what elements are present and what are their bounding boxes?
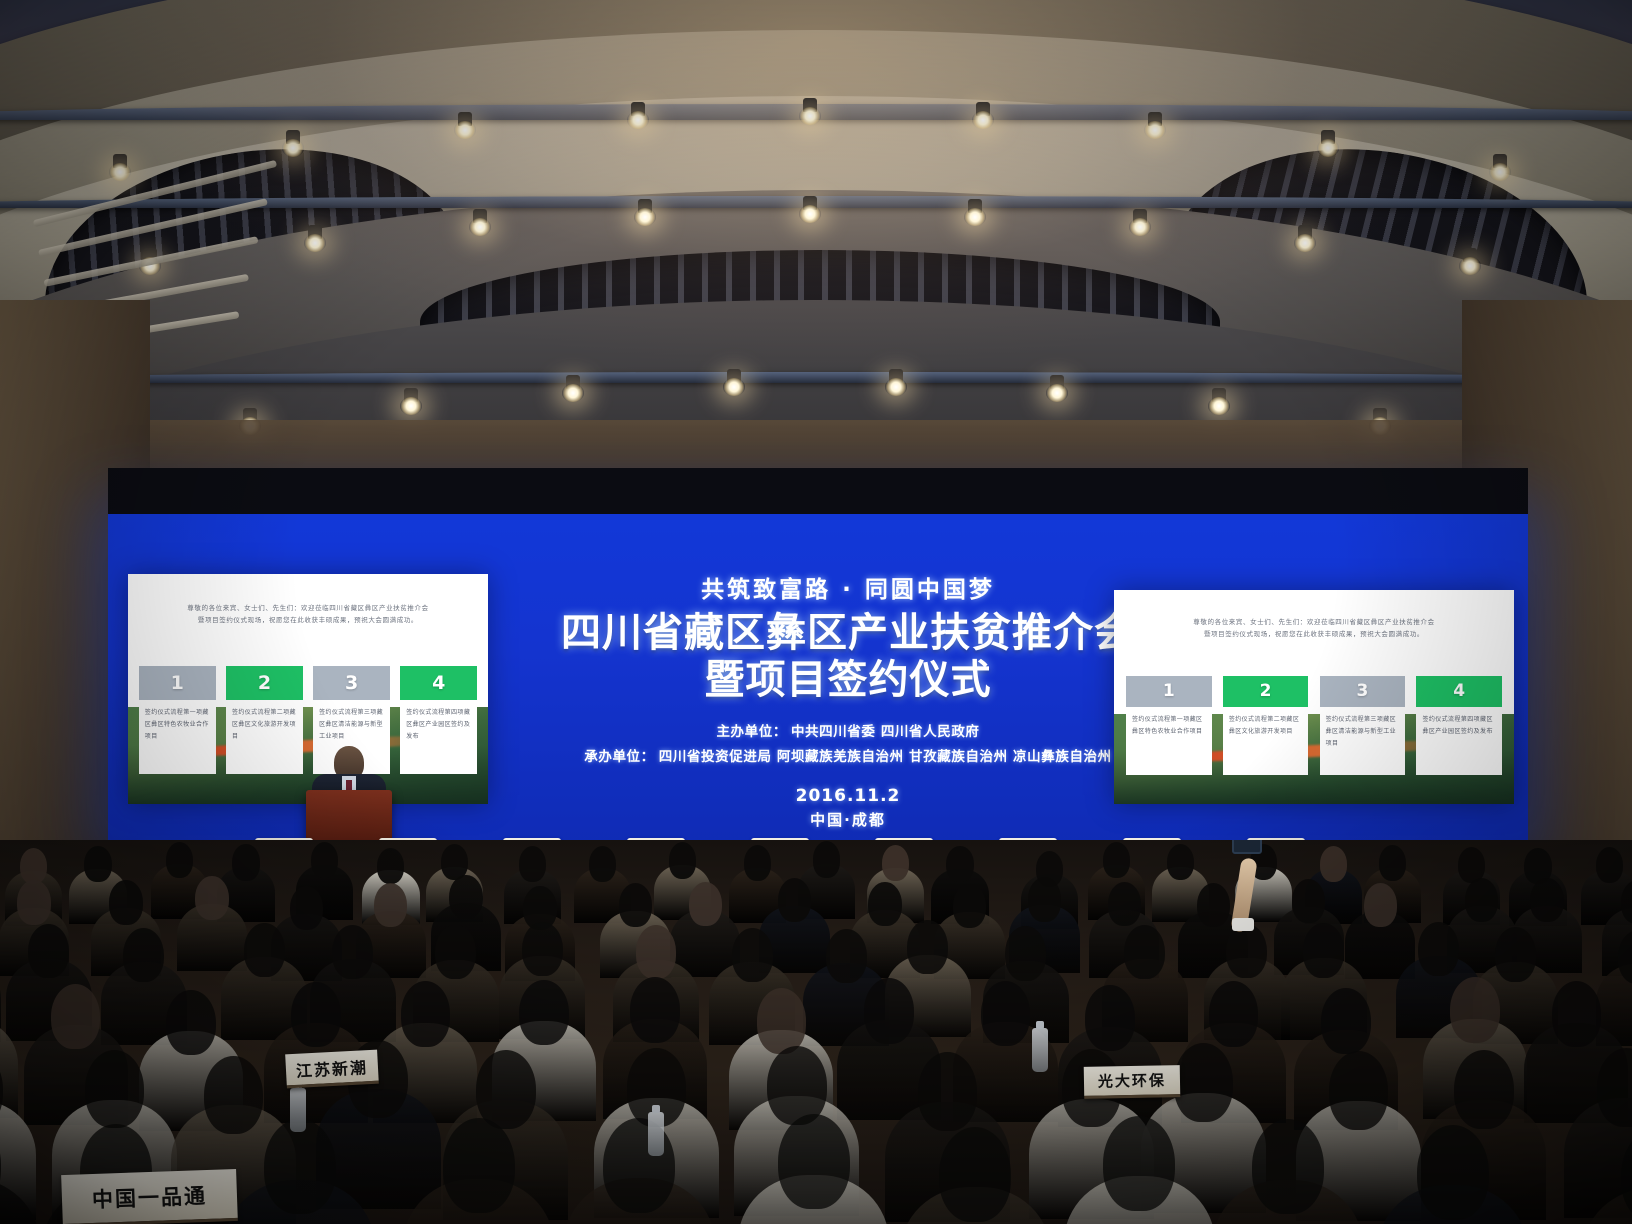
host-value: 中共四川省委 四川省人民政府 xyxy=(791,724,980,740)
audience-member-head xyxy=(17,880,50,924)
spotlight-glow xyxy=(1046,384,1068,402)
ceiling-spotlight xyxy=(282,130,304,156)
audience-member-head xyxy=(1028,877,1061,921)
slide-card: 1 签约仪式流程第一项藏区彝区特色农牧业合作项目 xyxy=(1126,676,1212,775)
stage-area: 尊敬的各位来宾、女士们、先生们：欢迎莅临四川省藏区彝区产业扶贫推介会 暨项目签约… xyxy=(0,470,1632,890)
audience-member-head xyxy=(630,977,680,1043)
intro-line-1: 尊敬的各位来宾、女士们、先生们：欢迎莅临四川省藏区彝区产业扶贫推介会 xyxy=(1142,616,1486,628)
ceiling-spotlight xyxy=(723,369,745,395)
ceiling-spotlight xyxy=(634,199,656,225)
audience-member-head xyxy=(1226,924,1267,978)
screen-place: 中国·成都 xyxy=(538,809,1158,830)
audience-member-head xyxy=(1303,923,1344,977)
audience-member-head xyxy=(1418,922,1459,976)
audience-member-head xyxy=(28,924,69,978)
audience-member-head xyxy=(1103,842,1130,878)
slide-panel-left-intro: 尊敬的各位来宾、女士们、先生们：欢迎莅临四川省藏区彝区产业扶贫推介会 暨项目签约… xyxy=(153,602,463,627)
audience-member-head xyxy=(244,923,285,977)
audience-member-head xyxy=(689,882,722,926)
audience-member-head xyxy=(519,846,546,882)
coorganizer-value: 四川省投资促进局 阿坝藏族羌族自治州 甘孜藏族自治州 凉山彝族自治州 xyxy=(659,749,1112,765)
spotlight-glow xyxy=(1459,257,1481,275)
audience-member-head xyxy=(1364,883,1397,927)
audience-member-head xyxy=(1103,1116,1175,1211)
led-display-screen: 尊敬的各位来宾、女士们、先生们：欢迎莅临四川省藏区彝区产业扶贫推介会 暨项目签约… xyxy=(108,512,1528,852)
screen-date: 2016.11.2 xyxy=(538,786,1158,806)
host-label: 主办单位： xyxy=(716,724,787,740)
audience-member-head xyxy=(1292,879,1325,923)
screen-title-line-1: 四川省藏区彝区产业扶贫推介会 xyxy=(538,610,1158,657)
spotlight-glow xyxy=(1294,234,1316,252)
spotlight-glow xyxy=(1489,163,1511,181)
ceiling-spotlight xyxy=(109,154,131,180)
ceiling-spotlight xyxy=(1208,388,1230,414)
audience-member-head xyxy=(589,846,616,882)
audience-member-head xyxy=(1174,1043,1234,1122)
audience-member-head xyxy=(195,876,228,920)
slide-card-text: 签约仪式流程第三项藏区彝区清洁能源与新型工业项目 xyxy=(1320,707,1406,775)
slide-card-number: 1 xyxy=(139,666,216,700)
audience-member-head xyxy=(946,846,973,882)
spotlight-glow xyxy=(1208,397,1230,415)
ceiling-spotlight xyxy=(972,102,994,128)
water-bottle xyxy=(290,1088,306,1132)
spotlight-glow xyxy=(964,208,986,226)
spotlight-glow xyxy=(723,378,745,396)
spotlight-glow xyxy=(627,111,649,129)
slide-panel-right-intro: 尊敬的各位来宾、女士们、先生们：欢迎莅临四川省藏区彝区产业扶贫推介会 暨项目签约… xyxy=(1142,616,1486,641)
ceiling-spotlight xyxy=(469,209,491,235)
slide-card: 2 签约仪式流程第二项藏区彝区文化旅游开发项目 xyxy=(226,666,303,774)
audience-member-head xyxy=(1495,927,1536,981)
screen-title-line-2: 暨项目签约仪式 xyxy=(538,657,1158,704)
conference-hall-photo: 尊敬的各位来宾、女士们、先生们：欢迎莅临四川省藏区彝区产业扶贫推介会 暨项目签约… xyxy=(0,0,1632,1224)
audience-member-head xyxy=(1320,846,1347,882)
spotlight-glow xyxy=(1317,139,1339,157)
slide-card: 2 签约仪式流程第二项藏区彝区文化旅游开发项目 xyxy=(1223,676,1309,775)
intro-line-2: 暨项目签约仪式现场，祝愿您在此收获丰硕成果，预祝大会圆满成功。 xyxy=(1142,628,1486,640)
slide-card-text: 签约仪式流程第二项藏区彝区文化旅游开发项目 xyxy=(1223,707,1309,775)
audience-member-head xyxy=(1124,925,1165,979)
water-bottle xyxy=(648,1112,664,1156)
ceiling-spotlight xyxy=(964,199,986,225)
audience-member-head xyxy=(826,929,867,983)
ceiling-spotlight xyxy=(885,369,907,395)
audience-member-head xyxy=(1209,981,1259,1047)
audience-member-head xyxy=(1005,926,1046,980)
audience-member-head xyxy=(669,842,696,878)
audience-member-head xyxy=(1108,882,1141,926)
audience-member-head xyxy=(744,845,771,881)
audience-member-head xyxy=(522,922,563,976)
audience-member-head xyxy=(939,1127,1011,1222)
audience-member-head xyxy=(311,842,338,878)
spotlight-glow xyxy=(469,218,491,236)
audience-member-head xyxy=(84,846,111,882)
audience-member-head xyxy=(443,1118,515,1213)
ceiling-spotlight xyxy=(1317,130,1339,156)
ceiling-spotlight xyxy=(1046,375,1068,401)
audience-member-head xyxy=(953,884,986,928)
audience-member-head xyxy=(166,990,216,1056)
audience-member-head xyxy=(1596,847,1623,883)
audience-member-head xyxy=(778,878,811,922)
audience-member-head xyxy=(813,841,840,877)
audience-member-head xyxy=(636,925,677,979)
slide-card-text: 签约仪式流程第二项藏区彝区文化旅游开发项目 xyxy=(226,700,303,774)
smartphone xyxy=(1232,840,1262,854)
spotlight-glow xyxy=(885,378,907,396)
audience-member-head xyxy=(864,978,914,1044)
slide-card: 4 签约仪式流程第四项藏区彝区产业园区签约及发布 xyxy=(400,666,477,774)
audience-member-head xyxy=(603,1118,675,1213)
audience-member-head xyxy=(882,845,909,881)
audience-member-head xyxy=(1085,985,1135,1051)
screen-top-bezel xyxy=(108,468,1528,514)
spotlight-glow xyxy=(400,397,422,415)
ceiling-spotlight xyxy=(1489,154,1511,180)
spotlight-glow xyxy=(1144,121,1166,139)
audience-member-head xyxy=(1450,977,1500,1043)
slide-card-number: 4 xyxy=(400,666,477,700)
ceiling-spotlight xyxy=(400,388,422,414)
slide-card-text: 签约仪式流程第一项藏区彝区特色农牧业合作项目 xyxy=(139,700,216,774)
audience-member-head xyxy=(264,1119,336,1214)
slide-card-number: 4 xyxy=(1416,676,1502,707)
audience-member-head xyxy=(123,928,164,982)
ceiling-spotlight xyxy=(304,225,326,251)
ceiling-spotlight xyxy=(1129,209,1151,235)
audience-member-head xyxy=(868,882,901,926)
audience-member-head xyxy=(778,1114,850,1209)
audience-member-head xyxy=(291,982,341,1048)
slide-card-text: 签约仪式流程第一项藏区彝区特色农牧业合作项目 xyxy=(1126,707,1212,775)
audience-member-head xyxy=(907,920,948,974)
audience-member-head xyxy=(1417,1125,1489,1220)
spotlight-glow xyxy=(634,208,656,226)
audience-member-head xyxy=(1465,878,1498,922)
slide-panel-left: 尊敬的各位来宾、女士们、先生们：欢迎莅临四川省藏区彝区产业扶贫推介会 暨项目签约… xyxy=(128,574,488,804)
audience-member-head xyxy=(449,875,482,919)
ceiling-spotlight xyxy=(799,196,821,222)
slide-card-number: 3 xyxy=(313,666,390,700)
screen-headline-block: 共筑致富路 · 同圆中国梦 四川省藏区彝区产业扶贫推介会 暨项目签约仪式 主办单… xyxy=(538,570,1158,830)
spotlight-glow xyxy=(799,205,821,223)
screen-slogan: 共筑致富路 · 同圆中国梦 xyxy=(538,570,1158,604)
audience-member-head xyxy=(401,981,451,1047)
slide-card: 3 签约仪式流程第三项藏区彝区清洁能源与新型工业项目 xyxy=(1320,676,1406,775)
slide-card-text: 签约仪式流程第四项藏区彝区产业园区签约及发布 xyxy=(400,700,477,774)
audience-member-head xyxy=(51,984,101,1050)
table-nameplate: 江苏新潮 xyxy=(285,1050,379,1089)
audience-member-head xyxy=(85,1050,145,1129)
audience-member-head xyxy=(377,848,404,884)
audience-member-head xyxy=(757,988,807,1054)
intro-line-1: 尊敬的各位来宾、女士们、先生们：欢迎莅临四川省藏区彝区产业扶贫推介会 xyxy=(153,602,463,614)
slide-panel-left-cards: 1 签约仪式流程第一项藏区彝区特色农牧业合作项目 2 签约仪式流程第二项藏区彝区… xyxy=(139,666,477,774)
spotlight-glow xyxy=(109,163,131,181)
shirt-cuff xyxy=(1232,918,1254,931)
ceiling-spotlight xyxy=(1144,112,1166,138)
slide-card-number: 3 xyxy=(1320,676,1406,707)
ceiling-spotlight xyxy=(562,375,584,401)
audience-member-head xyxy=(1252,1119,1324,1214)
audience-member-head xyxy=(1552,981,1602,1047)
ceiling-spotlight xyxy=(1294,225,1316,251)
water-bottle xyxy=(1032,1028,1048,1072)
slide-card: 1 签约仪式流程第一项藏区彝区特色农牧业合作项目 xyxy=(139,666,216,774)
audience-member-head xyxy=(166,842,193,878)
audience-member-head xyxy=(1329,1051,1389,1130)
table-nameplate: 中国一品通 xyxy=(61,1169,238,1224)
slide-card-number: 2 xyxy=(1223,676,1309,707)
spotlight-glow xyxy=(304,234,326,252)
audience-member-head xyxy=(20,848,47,884)
audience-member-head xyxy=(981,981,1031,1047)
audience-member-head xyxy=(1379,845,1406,881)
spotlight-glow xyxy=(454,121,476,139)
audience-member-head xyxy=(435,925,476,979)
audience-member-head xyxy=(332,925,373,979)
ceiling-spotlight xyxy=(1459,248,1481,274)
audience-member-head xyxy=(290,886,323,930)
coorganizer-line: 承办单位：四川省投资促进局 阿坝藏族羌族自治州 甘孜藏族自治州 凉山彝族自治州 xyxy=(538,745,1158,770)
slide-panel-right: 尊敬的各位来宾、女士们、先生们：欢迎莅临四川省藏区彝区产业扶贫推介会 暨项目签约… xyxy=(1114,590,1514,804)
audience-member-head xyxy=(619,883,652,927)
audience-member-head xyxy=(374,883,407,927)
spotlight-glow xyxy=(562,384,584,402)
slide-card-number: 1 xyxy=(1126,676,1212,707)
slide-card-number: 2 xyxy=(226,666,303,700)
audience-member-head xyxy=(1454,1050,1514,1129)
spotlight-glow xyxy=(1129,218,1151,236)
audience-member-head xyxy=(1197,883,1230,927)
audience-member-head xyxy=(1530,878,1563,922)
spotlight-glow xyxy=(972,111,994,129)
audience-member-head xyxy=(519,980,569,1046)
ceiling-spotlight xyxy=(454,112,476,138)
ceiling-spotlight xyxy=(627,102,649,128)
audience-member-head xyxy=(109,880,142,924)
audience-member-head xyxy=(1167,844,1194,880)
audience-member-head xyxy=(732,928,773,982)
audience-member-head xyxy=(476,1050,536,1129)
ceiling-spotlight xyxy=(799,98,821,124)
spotlight-glow xyxy=(799,107,821,125)
audience-member-head xyxy=(1321,988,1371,1054)
coorganizer-label: 承办单位： xyxy=(584,749,655,765)
audience-area xyxy=(0,840,1632,1224)
audience-member-head xyxy=(918,1052,978,1131)
slide-panel-right-cards: 1 签约仪式流程第一项藏区彝区特色农牧业合作项目 2 签约仪式流程第二项藏区彝区… xyxy=(1126,676,1502,775)
audience-member-head xyxy=(232,844,259,880)
audience-member-head xyxy=(204,1056,264,1135)
audience-member-head xyxy=(767,1046,827,1125)
host-organizer-line: 主办单位：中共四川省委 四川省人民政府 xyxy=(538,720,1158,745)
table-nameplate: 光大环保 xyxy=(1084,1065,1181,1099)
slide-card: 4 签约仪式流程第四项藏区彝区产业园区签约及发布 xyxy=(1416,676,1502,775)
screen-organizers: 主办单位：中共四川省委 四川省人民政府 承办单位：四川省投资促进局 阿坝藏族羌族… xyxy=(538,720,1158,770)
spotlight-glow xyxy=(282,139,304,157)
slide-card-text: 签约仪式流程第四项藏区彝区产业园区签约及发布 xyxy=(1416,707,1502,775)
intro-line-2: 暨项目签约仪式现场，祝愿您在此收获丰硕成果，预祝大会圆满成功。 xyxy=(153,614,463,626)
